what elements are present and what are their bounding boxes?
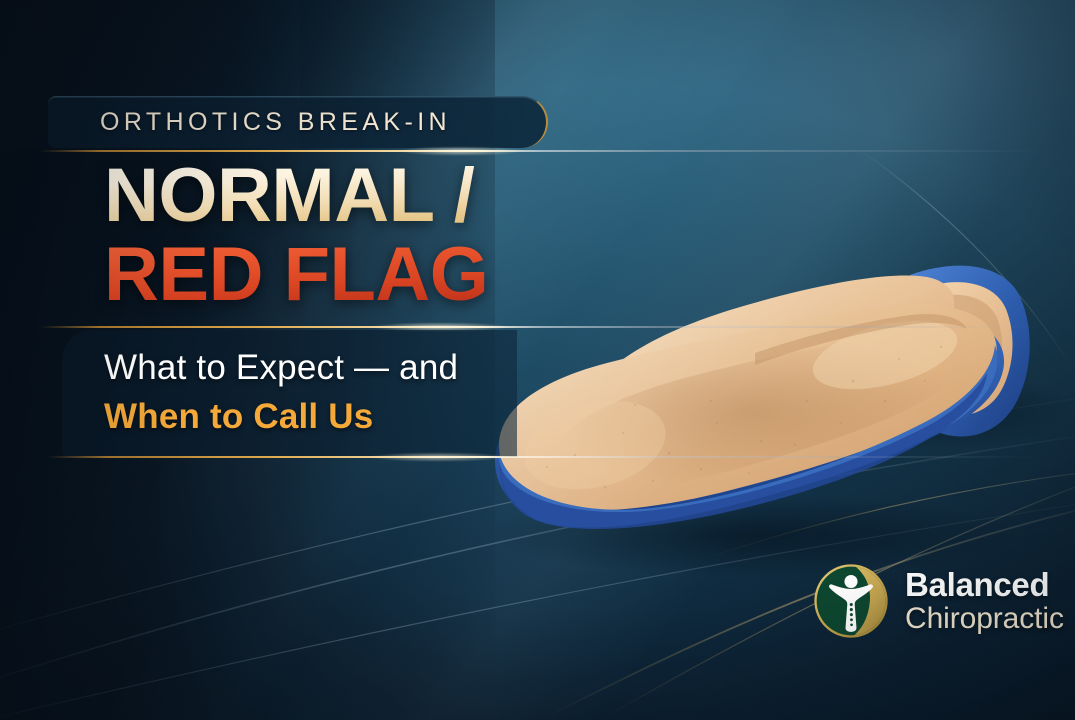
poster-canvas: ORTHOTICS BREAK-IN NORMAL / RED FLAG Wha… [0,0,1075,720]
background-vignette [0,0,1075,720]
